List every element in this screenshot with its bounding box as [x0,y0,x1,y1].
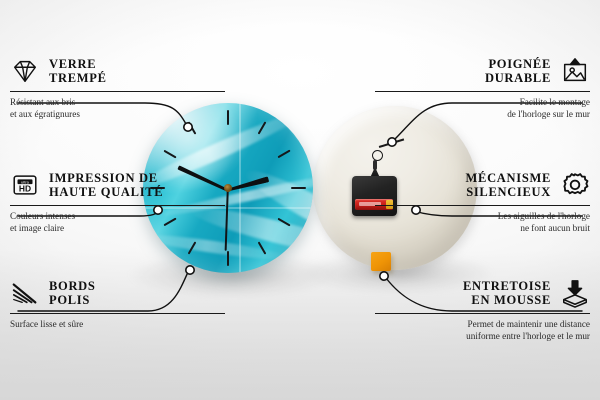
callout-verre-trempe[interactable]: VERRE TREMPÉ Résistant aux bris et aux é… [10,56,225,120]
callout-desc-line1: Les aiguilles de l'horloge [375,211,590,222]
callout-title: IMPRESSION DE HAUTE QUALITÉ [49,171,163,199]
callout-divider [375,205,590,206]
diamond-icon [10,56,40,86]
callout-desc-line1: Résistant aux bris [10,97,225,108]
callout-desc-line2: uniforme entre l'horloge et le mur [375,331,590,342]
callout-divider [375,91,590,92]
callout-desc-line1: Couleurs intenses [10,211,225,222]
callout-desc-line2: et image claire [10,223,225,234]
ultra-hd-icon: ultra HD [10,170,40,200]
callout-header: ultra HD IMPRESSION DE HAUTE QUALITÉ [10,170,225,200]
picture-hanger-icon [560,56,590,86]
callout-title: MÉCANISME SILENCIEUX [466,171,551,199]
callout-header: MÉCANISME SILENCIEUX [375,170,590,200]
callout-desc-line1: Surface lisse et sûre [10,319,225,330]
callout-title: VERRE TREMPÉ [49,57,107,85]
callout-desc-line1: Facilite le montage [375,97,590,108]
callout-title: ENTRETOISE EN MOUSSE [463,279,551,307]
callout-divider [10,205,225,206]
callout-header: BORDS POLIS [10,278,225,308]
callout-divider [375,313,590,314]
callout-desc-line2: ne font aucun bruit [375,223,590,234]
foam-spacer [371,252,391,271]
callout-desc-line1: Permet de maintenir une distance [375,319,590,330]
callout-bords-polis[interactable]: BORDS POLIS Surface lisse et sûre [10,278,225,331]
callout-impression-haute-qualite[interactable]: ultra HD IMPRESSION DE HAUTE QUALITÉ Cou… [10,170,225,234]
gear-icon [560,170,590,200]
callout-header: POIGNÉE DURABLE [375,56,590,86]
foam-pad-arrow-icon [560,278,590,308]
svg-text:HD: HD [19,184,31,194]
callout-title: POIGNÉE DURABLE [485,57,551,85]
callout-divider [10,91,225,92]
callout-header: VERRE TREMPÉ [10,56,225,86]
hands-center-cap [224,184,232,192]
infographic-canvas: VERRE TREMPÉ Résistant aux bris et aux é… [0,0,600,400]
callout-divider [10,313,225,314]
callout-mecanisme-silencieux[interactable]: MÉCANISME SILENCIEUX Les aiguilles de l'… [375,170,590,234]
callout-desc-line2: de l'horloge sur le mur [375,109,590,120]
callout-header: ENTRETOISE EN MOUSSE [375,278,590,308]
polished-edges-icon [10,278,40,308]
callout-title: BORDS POLIS [49,279,96,307]
callout-desc-line2: et aux égratignures [10,109,225,120]
hour-marker-2 [277,150,290,159]
callout-entretoise-en-mousse[interactable]: ENTRETOISE EN MOUSSE Permet de maintenir… [375,278,590,342]
callout-poignee-durable[interactable]: POIGNÉE DURABLE Facilite le montage de l… [375,56,590,120]
